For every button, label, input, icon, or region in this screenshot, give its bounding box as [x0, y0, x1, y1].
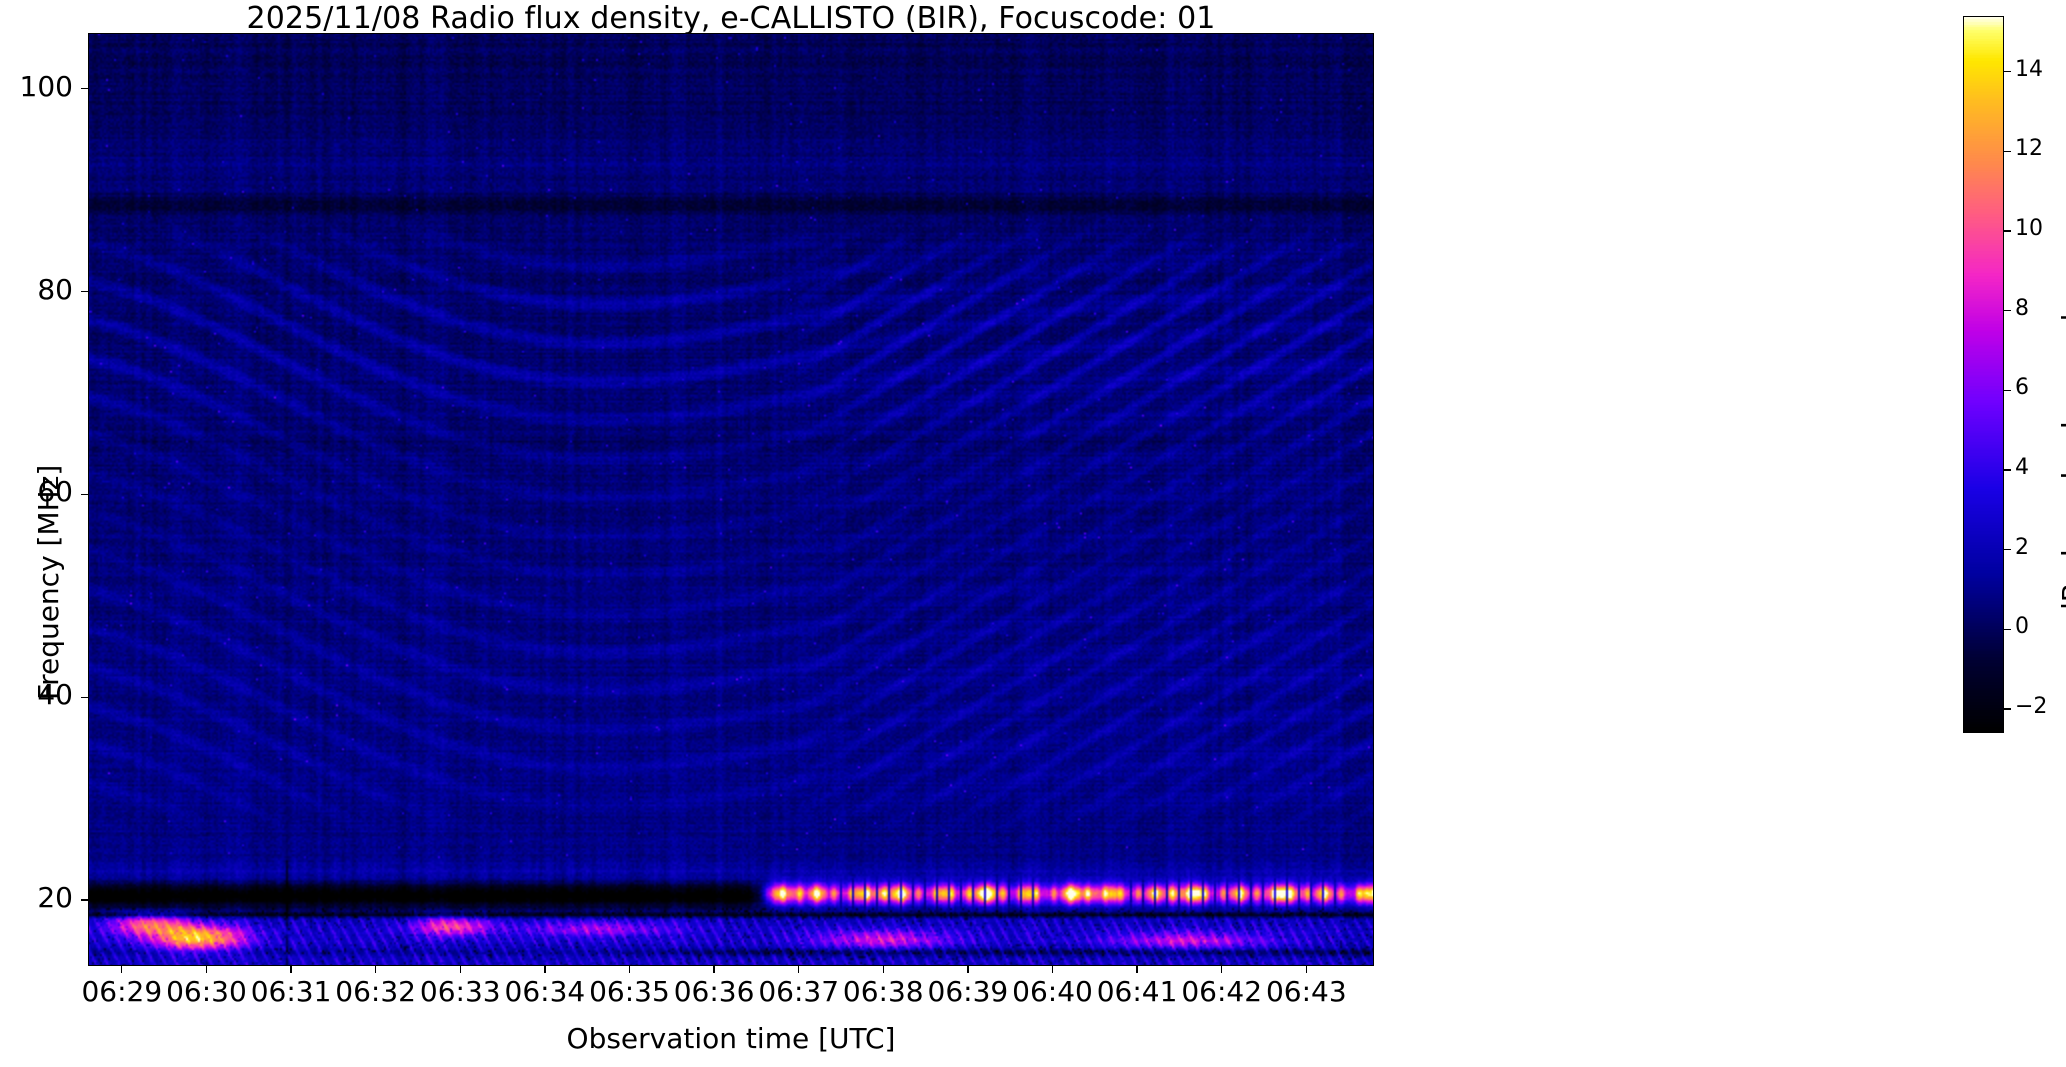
colorbar-tick-label: 2 — [2015, 535, 2029, 560]
y-tick-label: 100 — [3, 70, 73, 103]
y-axis-label: Frequency [MHz] — [32, 465, 65, 700]
colorbar-tick-label: 0 — [2015, 614, 2029, 639]
y-tick-label: 80 — [3, 273, 73, 306]
x-tick-mark — [629, 966, 630, 973]
colorbar-tick-label: 6 — [2015, 375, 2029, 400]
x-tick-mark — [798, 966, 799, 973]
spectrogram-plot-area — [88, 33, 1374, 966]
colorbar-tick-mark — [2004, 469, 2011, 470]
colorbar-tick-mark — [2004, 549, 2011, 550]
x-tick-mark — [460, 966, 461, 973]
x-tick-mark — [1221, 966, 1222, 973]
colorbar-tick-mark — [2004, 390, 2011, 391]
y-tick-label: 20 — [3, 881, 73, 914]
colorbar — [1963, 16, 2004, 733]
x-tick-mark — [1136, 966, 1137, 973]
x-tick-mark — [883, 966, 884, 973]
y-tick-mark — [81, 494, 88, 495]
colorbar-tick-mark — [2004, 151, 2011, 152]
x-tick-mark — [1306, 966, 1307, 973]
x-tick-mark — [121, 966, 122, 973]
y-tick-mark — [81, 291, 88, 292]
colorbar-tick-label: 14 — [2015, 57, 2043, 82]
y-tick-mark — [81, 899, 88, 900]
spectrogram-figure: 2025/11/08 Radio flux density, e-CALLIST… — [0, 0, 2066, 1067]
colorbar-tick-label: 8 — [2015, 296, 2029, 321]
spectrogram-image — [88, 33, 1374, 966]
figure-title: 2025/11/08 Radio flux density, e-CALLIST… — [88, 1, 1374, 36]
x-tick-mark — [290, 966, 291, 973]
colorbar-tick-mark — [2004, 230, 2011, 231]
x-tick-mark — [713, 966, 714, 973]
colorbar-tick-mark — [2004, 310, 2011, 311]
colorbar-tick-mark — [2004, 629, 2011, 630]
colorbar-tick-mark — [2004, 708, 2011, 709]
colorbar-tick-label: 4 — [2015, 455, 2029, 480]
colorbar-tick-mark — [2004, 71, 2011, 72]
colorbar-tick-label: −2 — [2015, 694, 2047, 719]
x-tick-mark — [1052, 966, 1053, 973]
x-tick-mark — [544, 966, 545, 973]
x-tick-mark — [967, 966, 968, 973]
x-tick-mark — [375, 966, 376, 973]
x-axis-label: Observation time [UTC] — [88, 1022, 1374, 1055]
colorbar-label: dB above background — [2056, 314, 2066, 620]
y-tick-mark — [81, 697, 88, 698]
colorbar-tick-label: 10 — [2015, 216, 2043, 241]
colorbar-tick-label: 12 — [2015, 136, 2043, 161]
y-tick-mark — [81, 88, 88, 89]
x-tick-label: 06:43 — [1246, 975, 1366, 1008]
x-tick-mark — [206, 966, 207, 973]
